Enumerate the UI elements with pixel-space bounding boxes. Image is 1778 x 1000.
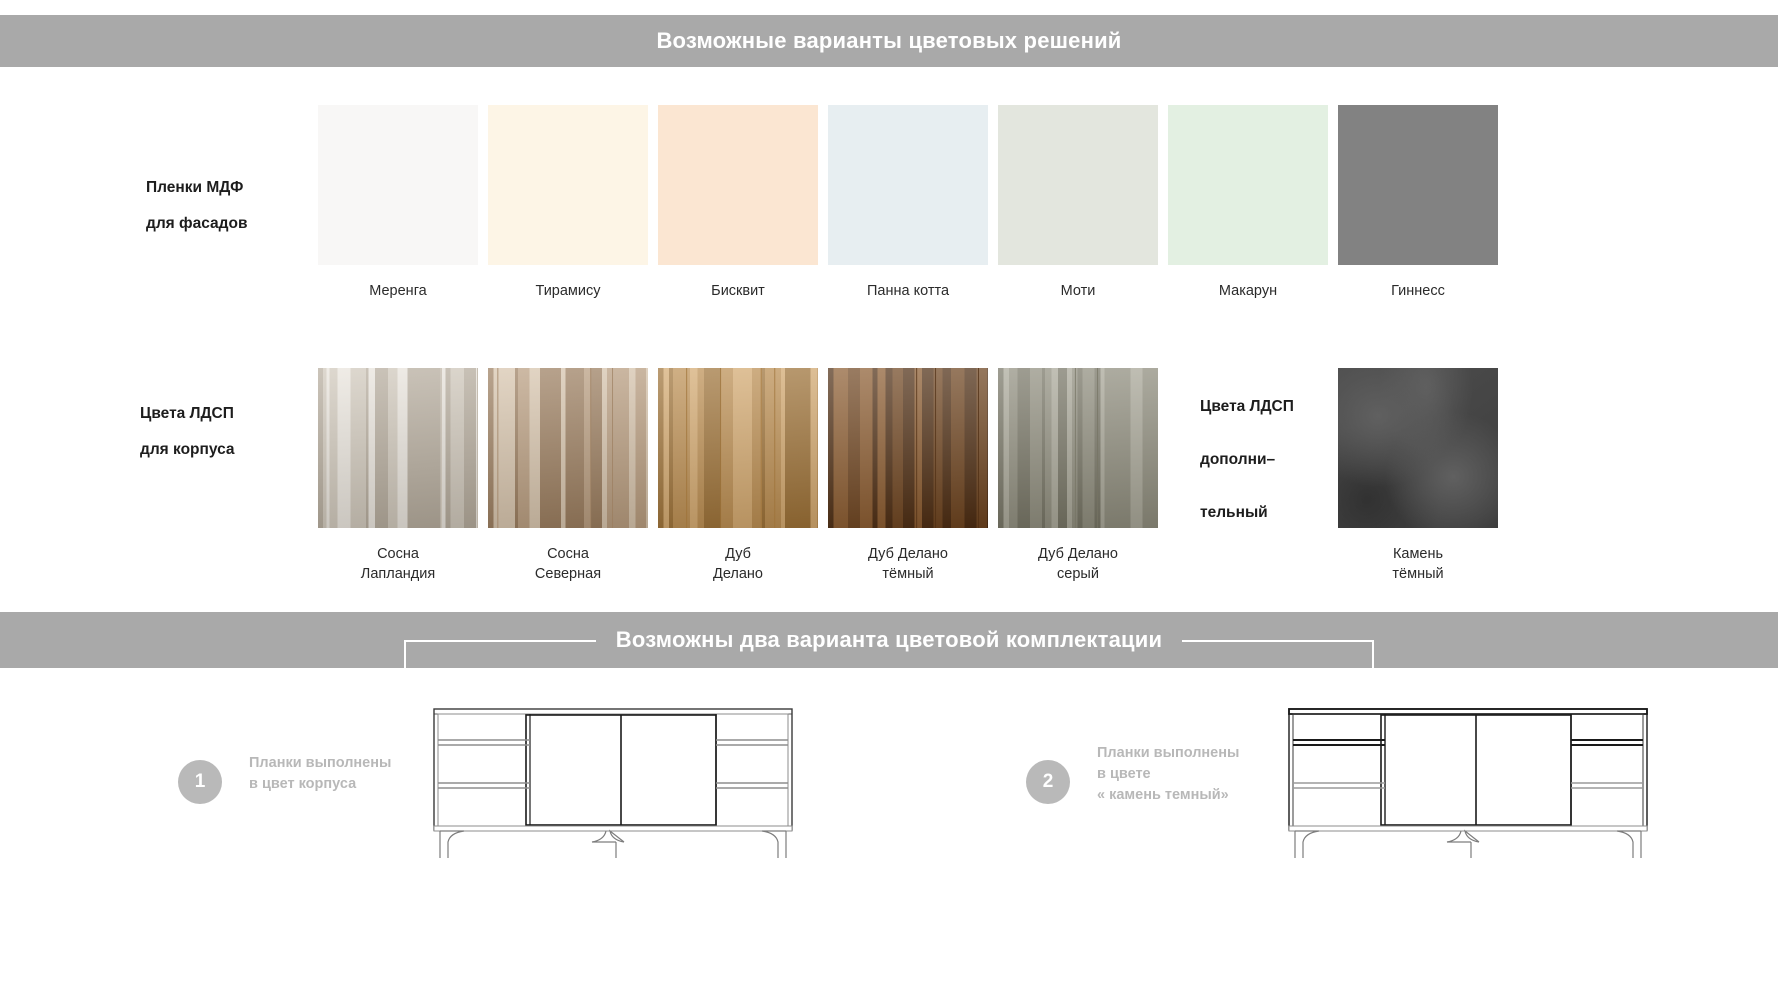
cabinet-illustration-variant-2 (1285, 700, 1655, 865)
mdf-swatch-caption-6: Макарун (1153, 281, 1343, 301)
option-2-text: Планки выполнены в цвете « камень темный… (1097, 743, 1239, 806)
ldsp-extra-swatch-caption: Камень тёмный (1323, 544, 1513, 584)
mdf-swatch-caption-2: Тирамису (473, 281, 663, 301)
mdf-swatch-6[interactable] (1168, 105, 1328, 265)
ldsp-extra-label-line2: дополни– (1200, 433, 1294, 486)
bottom-banner-title: Возможны два варианта цветовой комплекта… (616, 627, 1162, 653)
ldsp-swatch-1[interactable] (318, 368, 478, 528)
ldsp-extra-label-line1: Цвета ЛДСП (1200, 380, 1294, 433)
ldsp-swatch-caption-3: Дуб Делано (643, 544, 833, 584)
top-banner: Возможные варианты цветовых решений (0, 15, 1778, 67)
mdf-swatch-5[interactable] (998, 105, 1158, 265)
mdf-swatch-4[interactable] (828, 105, 988, 265)
mdf-swatch-3[interactable] (658, 105, 818, 265)
mdf-swatch-1[interactable] (318, 105, 478, 265)
bracket-left-decoration (404, 640, 596, 668)
bottom-banner: Возможны два варианта цветовой комплекта… (0, 612, 1778, 668)
ldsp-swatch-caption-2: Сосна Северная (473, 544, 663, 584)
cabinet-illustration-variant-1 (430, 700, 800, 865)
option-1-badge: 1 (178, 760, 222, 804)
ldsp-swatch-5[interactable] (998, 368, 1158, 528)
mdf-swatch-caption-4: Панна котта (813, 281, 1003, 301)
mdf-swatch-7[interactable] (1338, 105, 1498, 265)
top-banner-title: Возможные варианты цветовых решений (656, 28, 1121, 54)
option-2-number: 2 (1043, 771, 1054, 793)
option-1-text: Планки выполнены в цвет корпуса (249, 753, 391, 795)
ldsp-label-line2: для корпуса (140, 432, 235, 468)
mdf-swatch-2[interactable] (488, 105, 648, 265)
mdf-swatch-caption-1: Меренга (303, 281, 493, 301)
mdf-swatch-caption-3: Бисквит (643, 281, 833, 301)
option-1-number: 1 (195, 771, 206, 793)
mdf-section-label: Пленки МДФ для фасадов (146, 170, 247, 242)
ldsp-extra-section-label: Цвета ЛДСП дополни– тельный (1200, 380, 1294, 539)
ldsp-swatch-caption-4: Дуб Делано тёмный (813, 544, 1003, 584)
ldsp-swatch-2[interactable] (488, 368, 648, 528)
cabinet-1-svg (430, 700, 800, 860)
ldsp-section-label: Цвета ЛДСП для корпуса (140, 396, 235, 468)
mdf-label-line1: Пленки МДФ (146, 170, 247, 206)
ldsp-extra-label-line3: тельный (1200, 486, 1294, 539)
ldsp-swatch-3[interactable] (658, 368, 818, 528)
mdf-swatch-caption-5: Моти (983, 281, 1173, 301)
cabinet-2-svg (1285, 700, 1655, 860)
bracket-right-decoration (1182, 640, 1374, 668)
ldsp-swatch-caption-5: Дуб Делано серый (983, 544, 1173, 584)
ldsp-extra-swatch-stone-dark[interactable] (1338, 368, 1498, 528)
option-2-badge: 2 (1026, 760, 1070, 804)
mdf-swatch-caption-7: Гиннесс (1323, 281, 1513, 301)
ldsp-swatch-caption-1: Сосна Лапландия (303, 544, 493, 584)
mdf-label-line2: для фасадов (146, 206, 247, 242)
ldsp-label-line1: Цвета ЛДСП (140, 396, 235, 432)
ldsp-swatch-4[interactable] (828, 368, 988, 528)
